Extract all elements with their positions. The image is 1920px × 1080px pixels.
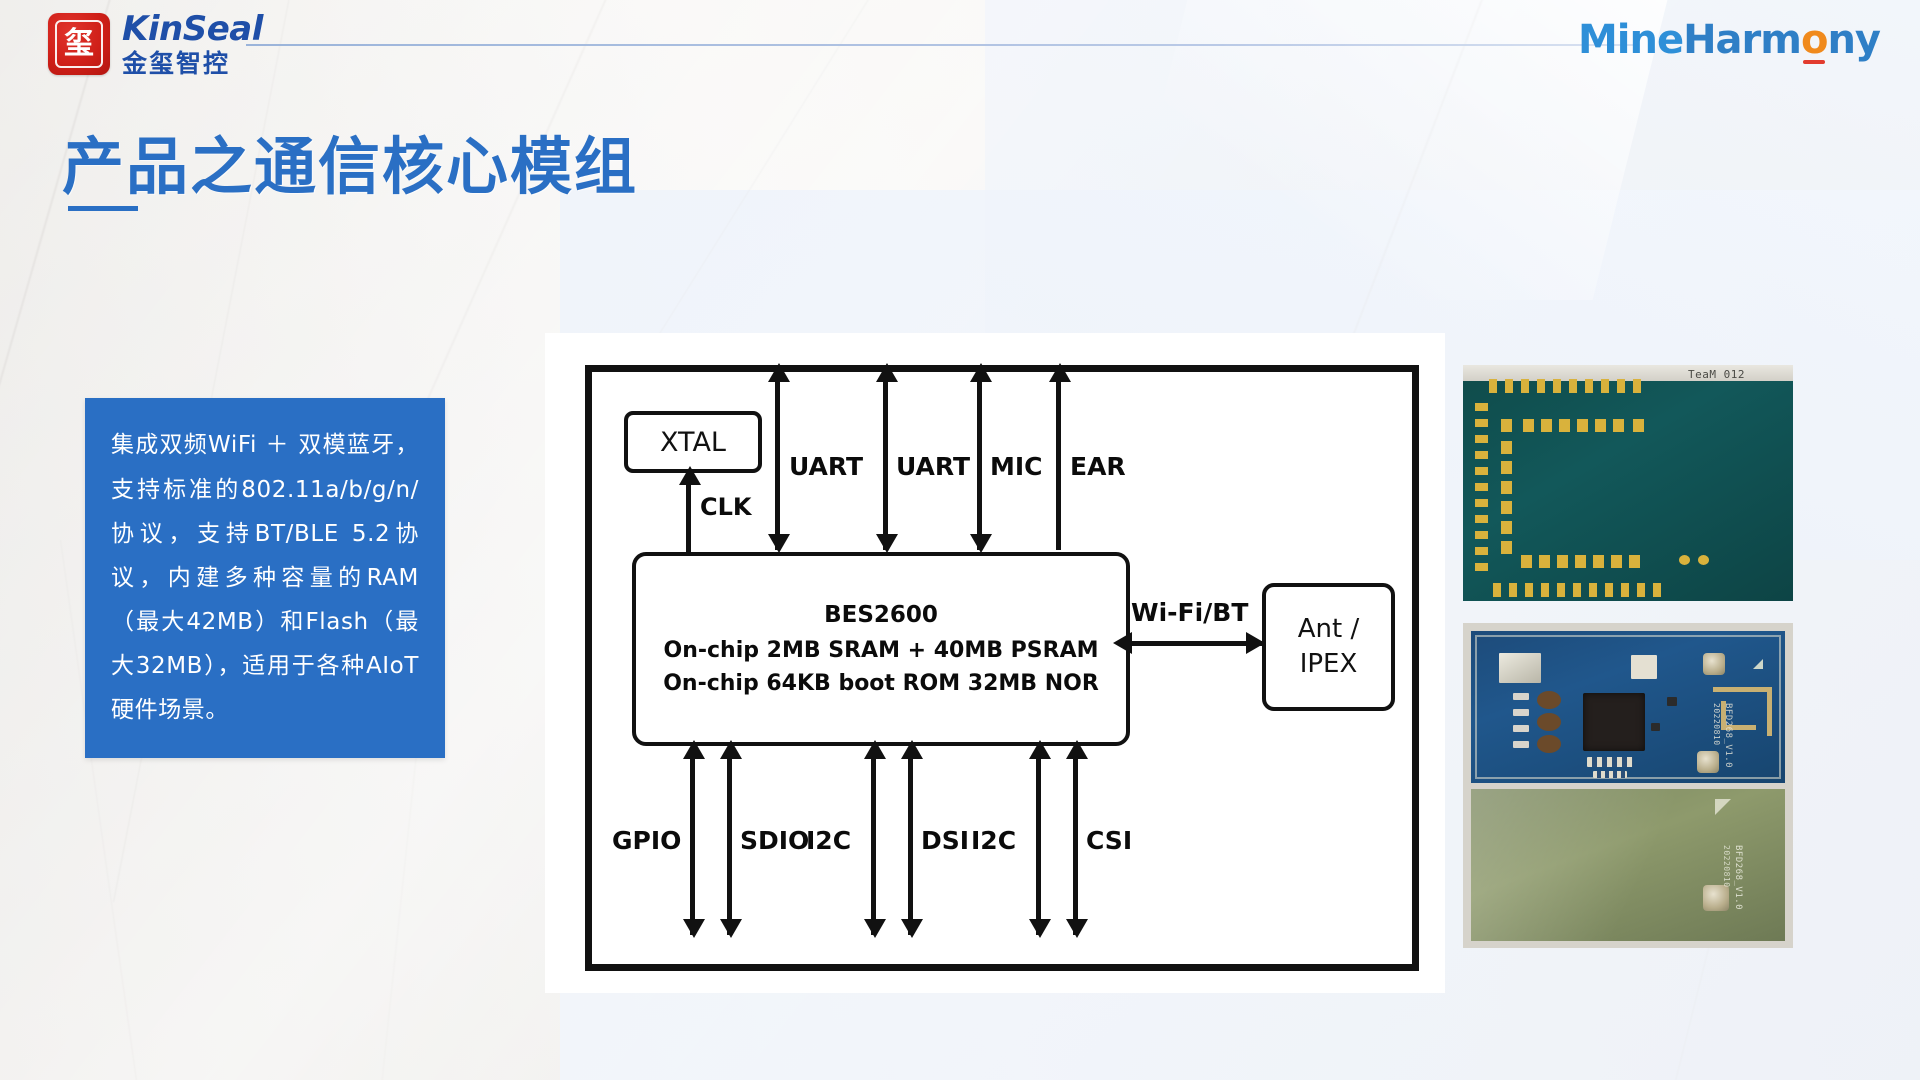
smd-resistor-3 bbox=[1513, 725, 1529, 732]
label-bottom-1: GPIO bbox=[612, 826, 681, 855]
bottom-line-2 bbox=[727, 755, 732, 935]
silk-triangle-marker bbox=[1753, 659, 1763, 669]
bottom-arrowhead-up-6 bbox=[1066, 740, 1088, 759]
rf-arrowhead-left bbox=[1113, 632, 1132, 654]
pcb-bare-corner-mark bbox=[1715, 799, 1731, 815]
electrolytic-cap-1 bbox=[1537, 691, 1561, 709]
bottom-line-5 bbox=[1036, 755, 1041, 935]
bottom-line-1 bbox=[690, 755, 695, 935]
top-arrowhead-up-3 bbox=[970, 363, 992, 382]
top-arrowhead-down-3 bbox=[970, 534, 992, 553]
bottom-line-3 bbox=[871, 755, 876, 935]
bottom-arrowhead-down-3 bbox=[864, 919, 886, 938]
soc-memory-line-2: On-chip 64KB boot ROM 32MB NOR bbox=[663, 671, 1099, 696]
smd-component-1 bbox=[1631, 655, 1657, 679]
pcb-bare-silk-label: BFD268_V1.0 bbox=[1733, 845, 1743, 910]
pcb-bare-view: BFD268_V1.0 20220810 bbox=[1471, 789, 1785, 941]
top-line-2 bbox=[883, 378, 888, 550]
ipex-connector-1 bbox=[1703, 653, 1725, 675]
label-bottom-6: CSI bbox=[1086, 826, 1132, 855]
clk-line bbox=[686, 478, 691, 554]
label-bottom-3: I2C bbox=[806, 826, 851, 855]
slide-canvas: 玺 KinSeal 金玺智控 MineHarmony 产品之通信核心模组 集成双… bbox=[0, 0, 1920, 1080]
pad-round-2 bbox=[1698, 555, 1709, 565]
electrolytic-cap-2 bbox=[1537, 713, 1561, 731]
smd-resistor-1 bbox=[1513, 693, 1529, 700]
test-pad-array bbox=[1587, 757, 1633, 767]
bottom-line-4 bbox=[908, 755, 913, 935]
top-line-1 bbox=[775, 378, 780, 550]
bottom-arrowhead-down-6 bbox=[1066, 919, 1088, 938]
top-line-4 bbox=[1056, 378, 1061, 550]
clk-arrowhead bbox=[679, 466, 701, 485]
antenna-label-line-1: Ant / bbox=[1298, 612, 1359, 647]
rf-line bbox=[1128, 641, 1262, 646]
top-arrowhead-down-2 bbox=[876, 534, 898, 553]
ipex-connector-2 bbox=[1697, 751, 1719, 773]
photo-bottom-silk-label: BFD268_V1.0 bbox=[1723, 703, 1733, 768]
label-top-4: EAR bbox=[1070, 452, 1126, 481]
module-photo-top: TeaM 012 bbox=[1463, 365, 1793, 601]
module-photo-bottom: BFD268_V1.0 20220810 BFD268_V1.0 2022081… bbox=[1463, 623, 1793, 948]
smd-resistor-4 bbox=[1513, 741, 1529, 748]
bottom-arrowhead-down-4 bbox=[901, 919, 923, 938]
label-rf: Wi-Fi/BT bbox=[1131, 598, 1248, 627]
bottom-arrowhead-up-3 bbox=[864, 740, 886, 759]
antenna-label-line-2: IPEX bbox=[1300, 647, 1358, 682]
label-top-3: MIC bbox=[990, 452, 1043, 481]
label-top-1: UART bbox=[789, 452, 863, 481]
smd-diode-1 bbox=[1667, 697, 1677, 706]
soc-title: BES2600 bbox=[824, 602, 938, 628]
label-bottom-2: SDIO bbox=[740, 826, 809, 855]
pcb-bare-silk-date: 20220810 bbox=[1722, 845, 1731, 888]
photo-bottom-silk-date: 20220810 bbox=[1712, 703, 1721, 746]
top-arrowhead-down-1 bbox=[768, 534, 790, 553]
soc-block: BES2600 On-chip 2MB SRAM + 40MB PSRAM On… bbox=[632, 552, 1130, 746]
pad-round-1 bbox=[1679, 555, 1690, 565]
bottom-arrowhead-down-5 bbox=[1029, 919, 1051, 938]
electrolytic-cap-3 bbox=[1537, 735, 1561, 753]
test-pad-array-2 bbox=[1593, 771, 1627, 778]
photo-top-caption: TeaM 012 bbox=[1688, 368, 1745, 381]
pcb-substrate-teal bbox=[1463, 365, 1793, 601]
bottom-arrowhead-up-2 bbox=[720, 740, 742, 759]
top-arrowhead-up-4 bbox=[1049, 363, 1071, 382]
bottom-arrowhead-up-5 bbox=[1029, 740, 1051, 759]
smd-diode-2 bbox=[1651, 723, 1660, 731]
label-bottom-5: I2C bbox=[971, 826, 1016, 855]
label-clk: CLK bbox=[700, 493, 752, 521]
xtal-block: XTAL bbox=[624, 411, 762, 473]
ipex-connector-3 bbox=[1703, 885, 1729, 911]
soc-memory-line-1: On-chip 2MB SRAM + 40MB PSRAM bbox=[664, 638, 1099, 663]
bottom-arrowhead-up-4 bbox=[901, 740, 923, 759]
label-bottom-4: DSI bbox=[921, 826, 969, 855]
top-arrowhead-up-2 bbox=[876, 363, 898, 382]
smd-resistor-2 bbox=[1513, 709, 1529, 716]
main-chip bbox=[1583, 693, 1645, 751]
top-line-3 bbox=[977, 378, 982, 550]
pcb-populated-view: BFD268_V1.0 20220810 bbox=[1471, 631, 1785, 783]
bottom-arrowhead-up-1 bbox=[683, 740, 705, 759]
bottom-arrowhead-down-2 bbox=[720, 919, 742, 938]
bottom-arrowhead-down-1 bbox=[683, 919, 705, 938]
label-top-2: UART bbox=[896, 452, 970, 481]
antenna-block: Ant / IPEX bbox=[1262, 583, 1395, 711]
top-arrowhead-up-1 bbox=[768, 363, 790, 382]
bottom-line-6 bbox=[1073, 755, 1078, 935]
shield-can bbox=[1499, 653, 1541, 683]
